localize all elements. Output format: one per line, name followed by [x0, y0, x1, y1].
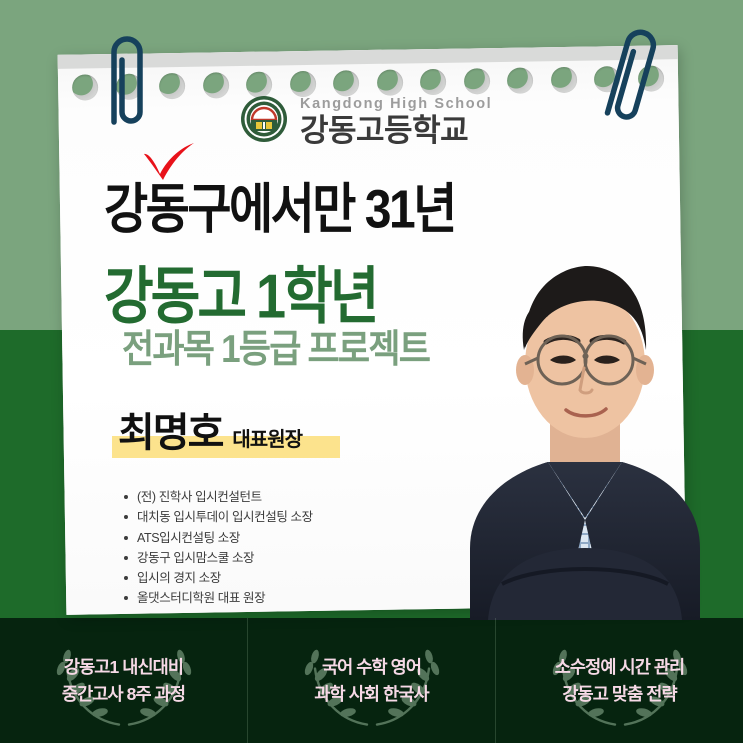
panel-line-2: 중간고사 8주 과정 [62, 681, 185, 708]
paperclip-icon [596, 18, 666, 143]
panel-line-1: 강동고1 내신대비 [64, 654, 183, 681]
list-item: 올댓스터디학원 대표 원장 [124, 588, 313, 608]
punch-hole-icon [72, 74, 98, 100]
presenter-block: 최명호 대표원장 [118, 400, 302, 458]
headline-project: 전과목 1등급 프로젝트 [122, 318, 429, 374]
punch-hole-icon [464, 68, 490, 94]
punch-hole-icon [246, 72, 272, 98]
school-crest-icon [240, 95, 288, 148]
punch-hole-icon [203, 72, 229, 98]
paperclip-icon [96, 26, 152, 143]
panel-line-2: 과학 사회 한국사 [314, 681, 428, 708]
headline-years: 강동구에서만 31년 [104, 165, 455, 243]
list-item: 입시의 경지 소장 [124, 568, 313, 588]
punch-hole-icon [507, 67, 533, 93]
presenter-name: 최명호 [118, 400, 222, 458]
school-header: Kangdong High School 강동고등학교 [240, 95, 492, 148]
punch-hole-icon [290, 71, 316, 97]
punch-hole-icon [159, 73, 185, 99]
school-name-korean: 강동고등학교 [300, 115, 492, 146]
list-item: ATS입시컨설팅 소장 [124, 528, 313, 548]
credentials-list: (전) 진학사 입시컨설턴트 대치동 입시투데이 입시컨설팅 소장 ATS입시컨… [124, 487, 313, 609]
panel-line-2: 강동고 맞춤 전략 [562, 681, 676, 708]
feature-panel-3: 소수정예 시간 관리 강동고 맞춤 전략 [495, 618, 743, 743]
panel-line-1: 소수정예 시간 관리 [555, 654, 685, 681]
feature-panel-1: 강동고1 내신대비 중간고사 8주 과정 [0, 618, 247, 743]
list-item: (전) 진학사 입시컨설턴트 [124, 487, 313, 507]
punch-hole-icon [377, 69, 403, 95]
punch-hole-icon [420, 69, 446, 95]
list-item: 대치동 입시투데이 입시컨설팅 소장 [124, 507, 313, 527]
school-name-english: Kangdong High School [300, 97, 492, 112]
poster-root: Kangdong High School 강동고등학교 강동구에서만 31년 강… [0, 0, 743, 743]
panel-line-1: 국어 수학 영어 [322, 654, 421, 681]
punch-hole-icon [333, 70, 359, 96]
presenter-title: 대표원장 [232, 423, 302, 452]
feature-panel-2: 국어 수학 영어 과학 사회 한국사 [247, 618, 495, 743]
presenter-portrait-photo [462, 218, 707, 620]
punch-hole-icon [551, 67, 577, 93]
bottom-feature-panels: 강동고1 내신대비 중간고사 8주 과정 [0, 618, 743, 743]
list-item: 강동구 입시맘스쿨 소장 [124, 548, 313, 568]
